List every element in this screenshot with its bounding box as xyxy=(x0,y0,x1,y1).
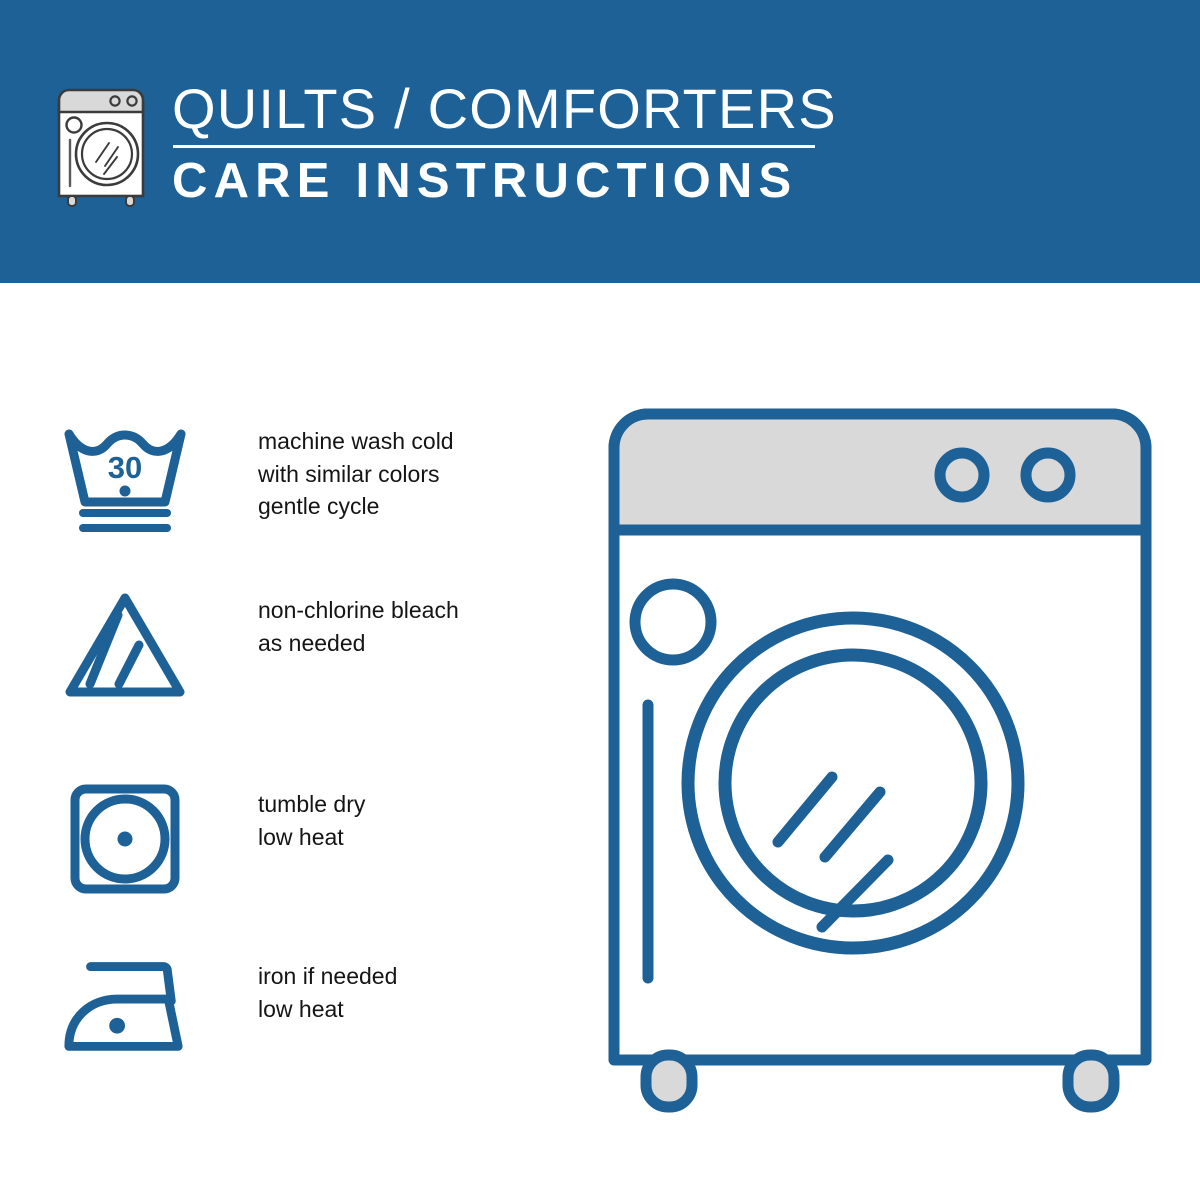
washer-knob-left[interactable] xyxy=(940,453,984,497)
header-banner: QUILTS / COMFORTERS CARE INSTRUCTIONS xyxy=(0,0,1200,283)
wash-basin-30-gentle-icon: 30 xyxy=(61,420,189,536)
care-item-iron: iron if needed low heat xyxy=(60,955,397,1057)
wash-temperature-label: 30 xyxy=(108,450,142,485)
tumble-dry-low-heat-icon xyxy=(66,783,184,895)
title-divider xyxy=(173,145,815,148)
care-item-label-wash: machine wash cold with similar colors ge… xyxy=(190,420,454,523)
care-item-label-bleach: non-chlorine bleach as needed xyxy=(190,589,459,659)
header-content: QUILTS / COMFORTERS CARE INSTRUCTIONS xyxy=(52,78,837,210)
page-title: QUILTS / COMFORTERS xyxy=(172,79,837,139)
care-item-bleach: non-chlorine bleach as needed xyxy=(60,589,459,701)
care-item-label-iron: iron if needed low heat xyxy=(190,955,397,1025)
iron-low-heat-icon xyxy=(60,955,190,1057)
washer-leg-right xyxy=(1068,1055,1114,1107)
care-item-machine-wash: 30 machine wash cold with similar colors… xyxy=(60,420,454,536)
header-title-group: QUILTS / COMFORTERS CARE INSTRUCTIONS xyxy=(172,78,837,208)
care-instruction-list: 30 machine wash cold with similar colors… xyxy=(0,283,560,1200)
non-chlorine-bleach-triangle-icon xyxy=(61,589,189,701)
page-subtitle: CARE INSTRUCTIONS xyxy=(172,155,837,208)
symbol-container-bleach xyxy=(60,589,190,701)
symbol-container-wash: 30 xyxy=(60,420,190,536)
washer-leg-left xyxy=(646,1055,692,1107)
washer-door-inner-ring[interactable] xyxy=(725,655,981,911)
washer-indicator-circle xyxy=(635,584,711,660)
washing-machine-icon xyxy=(52,78,158,210)
care-item-tumble-dry: tumble dry low heat xyxy=(60,783,365,895)
care-item-label-dry: tumble dry low heat xyxy=(190,783,365,853)
tumble-dry-dot xyxy=(118,832,133,847)
front-load-washing-machine-illustration xyxy=(600,400,1160,1120)
symbol-container-dry xyxy=(60,783,190,895)
washer-knob-right[interactable] xyxy=(1026,453,1070,497)
iron-dot xyxy=(109,1018,125,1034)
wash-dot xyxy=(120,486,131,497)
symbol-container-iron xyxy=(60,955,190,1057)
